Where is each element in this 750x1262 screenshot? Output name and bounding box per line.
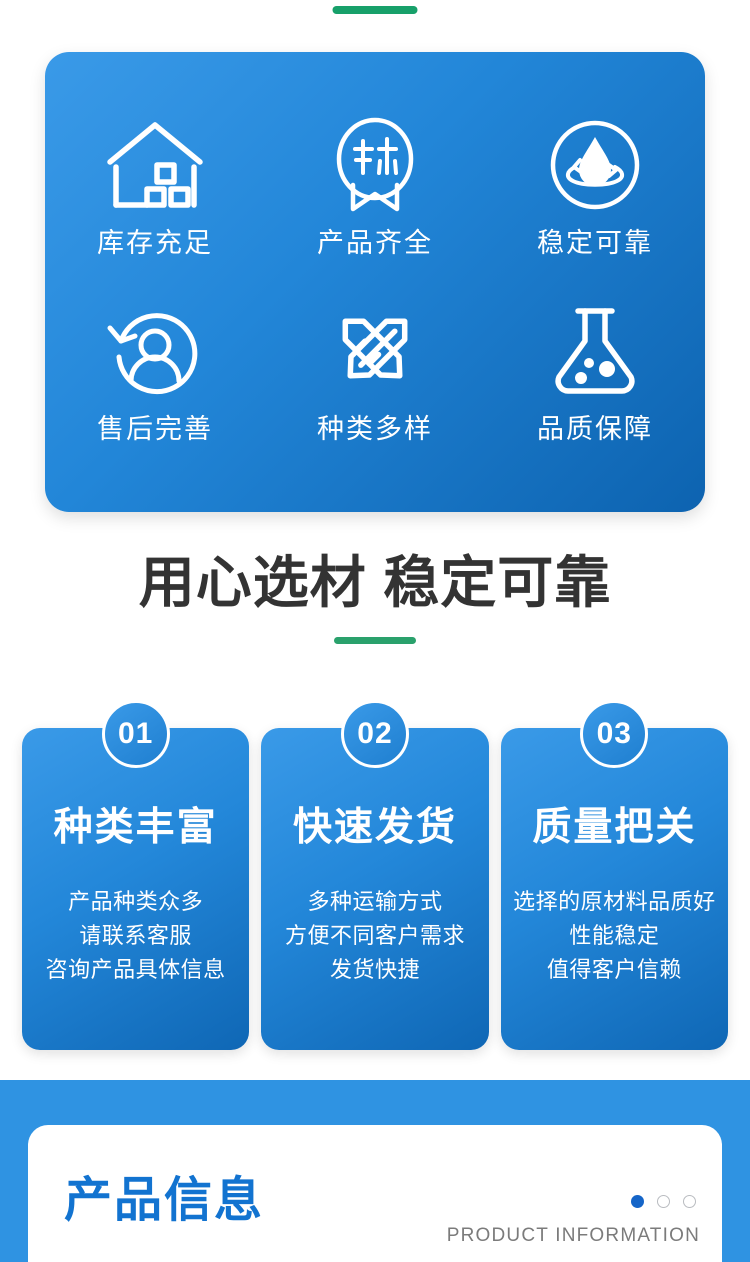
- section-heading: 用心选材 稳定可靠: [0, 551, 750, 644]
- product-info-subtitle: PRODUCT INFORMATION: [447, 1225, 700, 1247]
- feature-item-quality[interactable]: 品质保障: [485, 296, 705, 482]
- feature-grid: 库存充足 产品齐全: [45, 110, 705, 482]
- card-desc-line: 咨询产品具体信息: [30, 953, 241, 987]
- card-desc-line: 多种运输方式: [269, 885, 480, 919]
- feature-item-products[interactable]: 产品齐全: [265, 110, 485, 296]
- card-desc-line: 方便不同客户需求: [269, 919, 480, 953]
- feature-panel: 库存充足 产品齐全: [45, 52, 705, 512]
- flask-icon: [540, 296, 650, 406]
- card-title: 快速发货: [261, 808, 488, 847]
- advantage-card-02[interactable]: 02 快速发货 多种运输方式 方便不同客户需求 发货快捷: [261, 728, 488, 1050]
- water-drop-rotation-icon: [540, 110, 650, 220]
- card-description: 产品种类众多 请联系客服 咨询产品具体信息: [22, 885, 249, 987]
- advantage-card-01[interactable]: 01 种类丰富 产品种类众多 请联系客服 咨询产品具体信息: [22, 728, 249, 1050]
- feature-item-stable[interactable]: 稳定可靠: [485, 110, 705, 296]
- feature-label: 售后完善: [97, 416, 213, 443]
- section-underline: [334, 637, 416, 644]
- feature-label: 品质保障: [537, 416, 653, 443]
- feature-label: 种类多样: [317, 416, 433, 443]
- card-title: 质量把关: [501, 808, 728, 847]
- card-desc-line: 选择的原材料品质好: [509, 885, 720, 919]
- feature-item-aftersales[interactable]: 售后完善: [45, 296, 265, 482]
- card-desc-line: 值得客户信赖: [509, 953, 720, 987]
- product-info-title: 产品信息: [64, 1177, 264, 1225]
- card-desc-line: 产品种类众多: [30, 885, 241, 919]
- feature-item-stock[interactable]: 库存充足: [45, 110, 265, 296]
- page-title: 用心选材 稳定可靠: [0, 551, 750, 615]
- card-desc-line: 请联系客服: [30, 919, 241, 953]
- card-description: 选择的原材料品质好 性能稳定 值得客户信赖: [501, 885, 728, 987]
- crossed-pens-icon: [320, 296, 430, 406]
- advantage-card-list: 01 种类丰富 产品种类众多 请联系客服 咨询产品具体信息 02 快速发货 多种…: [22, 728, 728, 1050]
- supply-medal-icon: [320, 110, 430, 220]
- advantage-card-03[interactable]: 03 质量把关 选择的原材料品质好 性能稳定 值得客户信赖: [501, 728, 728, 1050]
- feature-label: 产品齐全: [317, 230, 433, 257]
- carousel-dot-3[interactable]: [683, 1195, 696, 1208]
- card-number-badge: 03: [580, 700, 648, 768]
- card-desc-line: 性能稳定: [509, 919, 720, 953]
- carousel-dot-1[interactable]: [631, 1195, 644, 1208]
- warehouse-icon: [100, 110, 210, 220]
- card-title: 种类丰富: [22, 808, 249, 847]
- product-info-card: 产品信息 PRODUCT INFORMATION: [28, 1125, 722, 1262]
- after-sales-person-icon: [100, 296, 210, 406]
- card-number-badge: 01: [102, 700, 170, 768]
- card-number-badge: 02: [341, 700, 409, 768]
- carousel-dot-2[interactable]: [657, 1195, 670, 1208]
- carousel-dots[interactable]: [631, 1195, 696, 1208]
- card-desc-line: 发货快捷: [269, 953, 480, 987]
- card-description: 多种运输方式 方便不同客户需求 发货快捷: [261, 885, 488, 987]
- top-divider: [333, 6, 418, 14]
- feature-item-variety[interactable]: 种类多样: [265, 296, 485, 482]
- feature-label: 稳定可靠: [537, 230, 653, 257]
- feature-label: 库存充足: [97, 230, 213, 257]
